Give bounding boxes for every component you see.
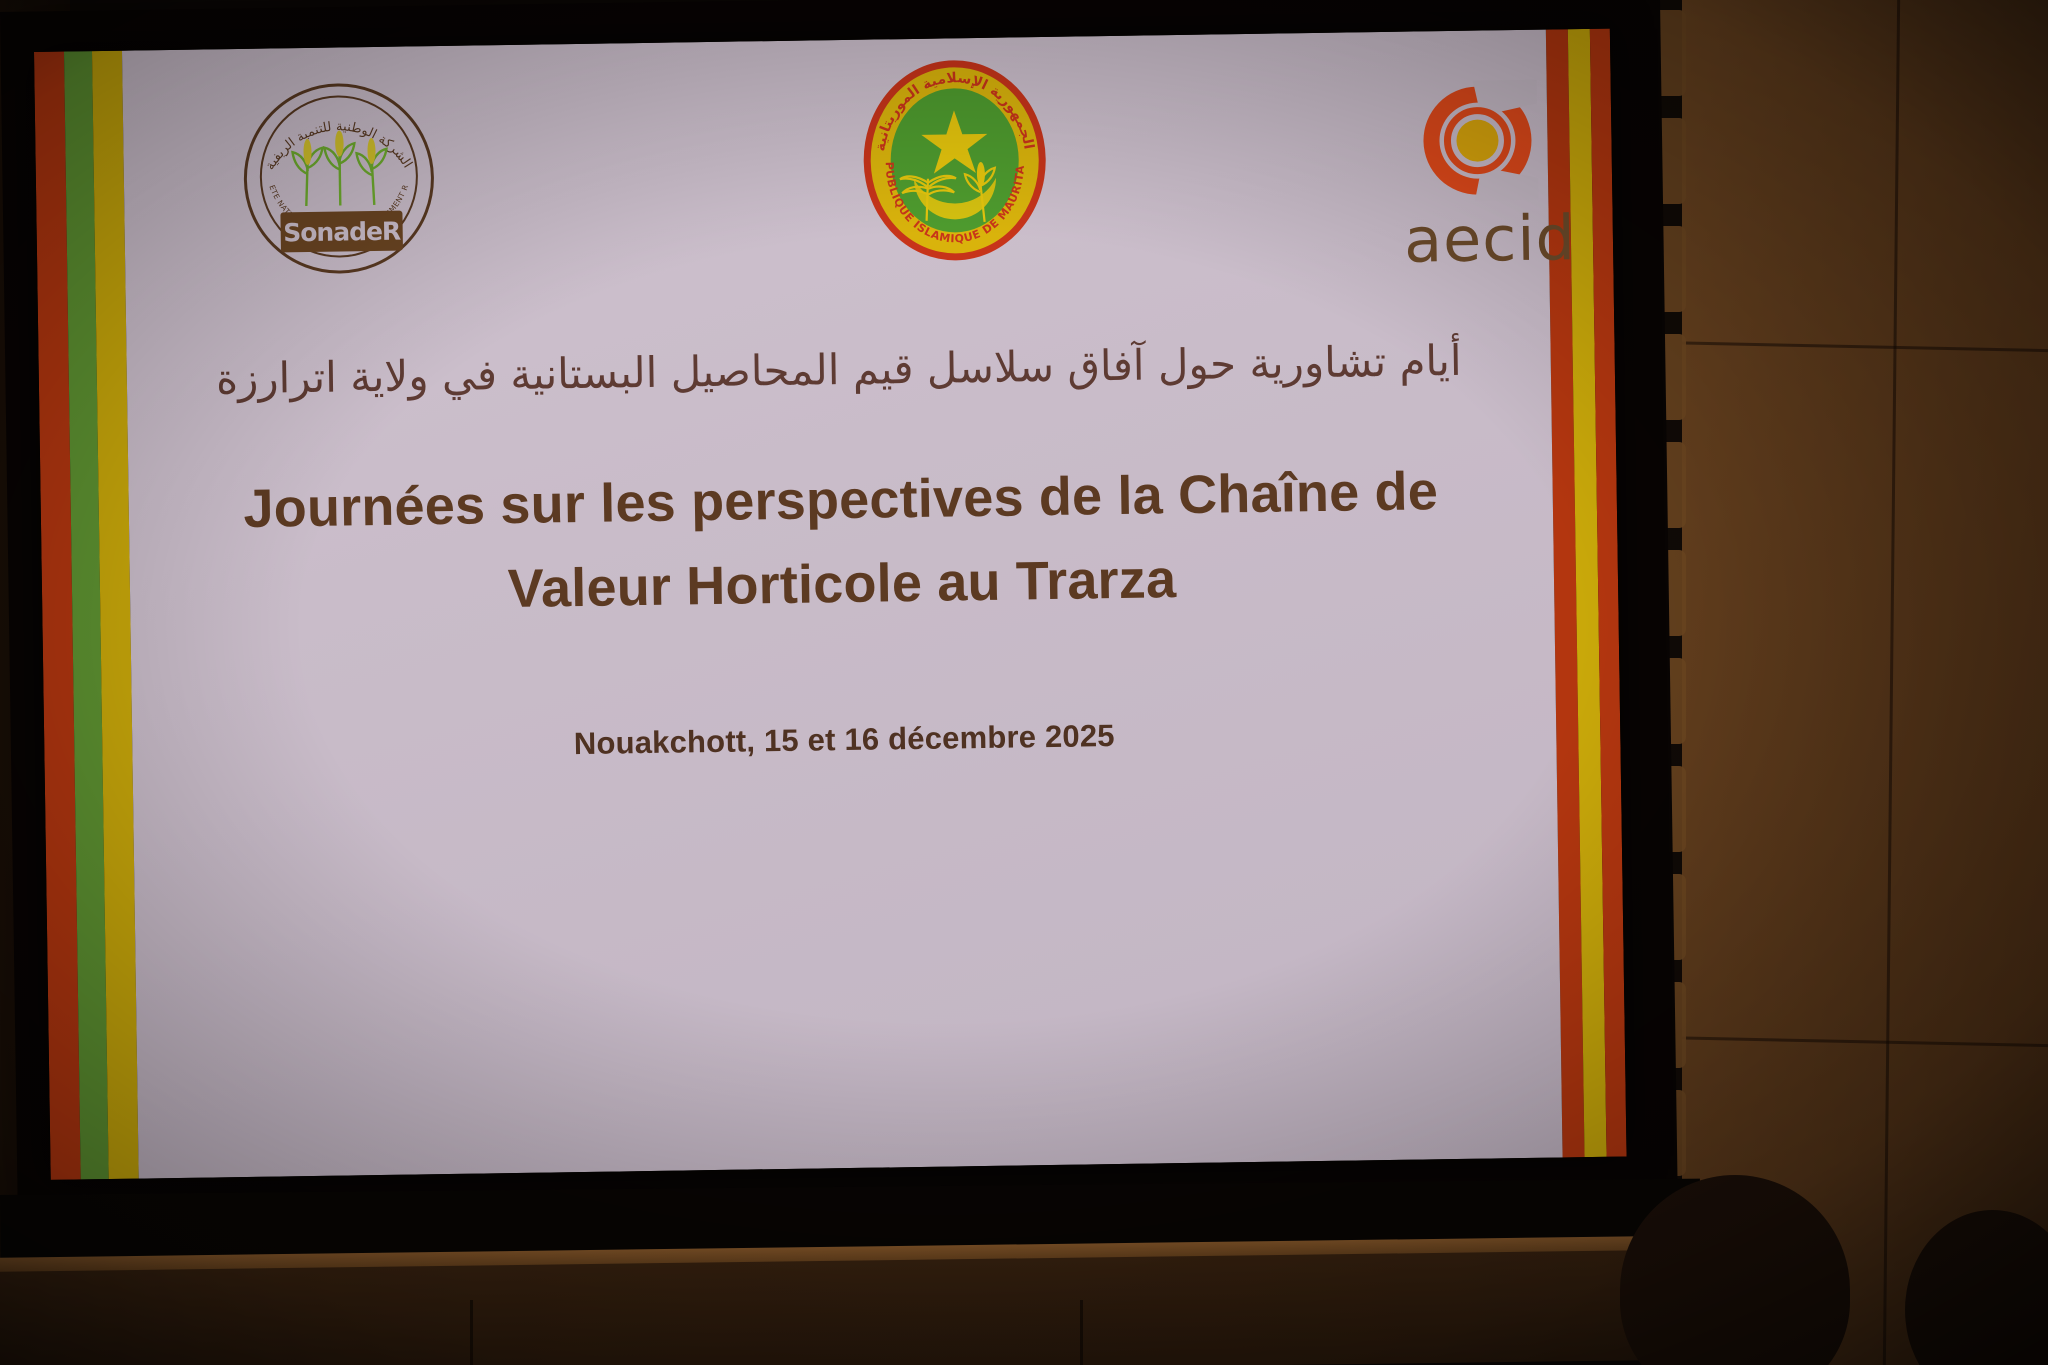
- presentation-slide[interactable]: الشركة الوطنية للتنمية الريفية SOCIETE N…: [34, 29, 1627, 1180]
- slide-date-location: Nouakchott, 15 et 16 décembre 2025: [132, 712, 1556, 769]
- slide-arabic-title: أيام تشاورية حول آفاق سلاسل قيم المحاصيل…: [126, 330, 1551, 412]
- wooden-wall-right: [1655, 0, 2048, 1365]
- lower-panel-seam: [470, 1300, 473, 1365]
- aecid-mark-icon: [1417, 80, 1539, 202]
- emblem-details: الجمهورية الإسلامية الموريتانية RÉPUBLIQ…: [862, 59, 1047, 262]
- sonader-logo: الشركة الوطنية للتنمية الريفية SOCIETE N…: [243, 82, 436, 275]
- aecid-wordmark: aecid: [1384, 207, 1595, 272]
- presentation-room-photo: الشركة الوطنية للتنمية الريفية SOCIETE N…: [0, 0, 2048, 1365]
- lower-panel-seam: [1080, 1300, 1083, 1365]
- sonader-wordmark: SonadeR: [280, 211, 403, 253]
- slide-text-block: أيام تشاورية حول آفاق سلاسل قيم المحاصيل…: [126, 330, 1556, 769]
- logo-row: الشركة الوطنية للتنمية الريفية SOCIETE N…: [122, 30, 1550, 341]
- sonader-crop-plants-icon: [287, 129, 392, 209]
- slide-content-area: الشركة الوطنية للتنمية الريفية SOCIETE N…: [122, 30, 1563, 1179]
- emblem-star-icon: [921, 110, 988, 174]
- aecid-logo: aecid: [1383, 79, 1596, 302]
- republic-of-mauritania-emblem: الجمهورية الإسلامية الموريتانية RÉPUBLIQ…: [862, 59, 1047, 262]
